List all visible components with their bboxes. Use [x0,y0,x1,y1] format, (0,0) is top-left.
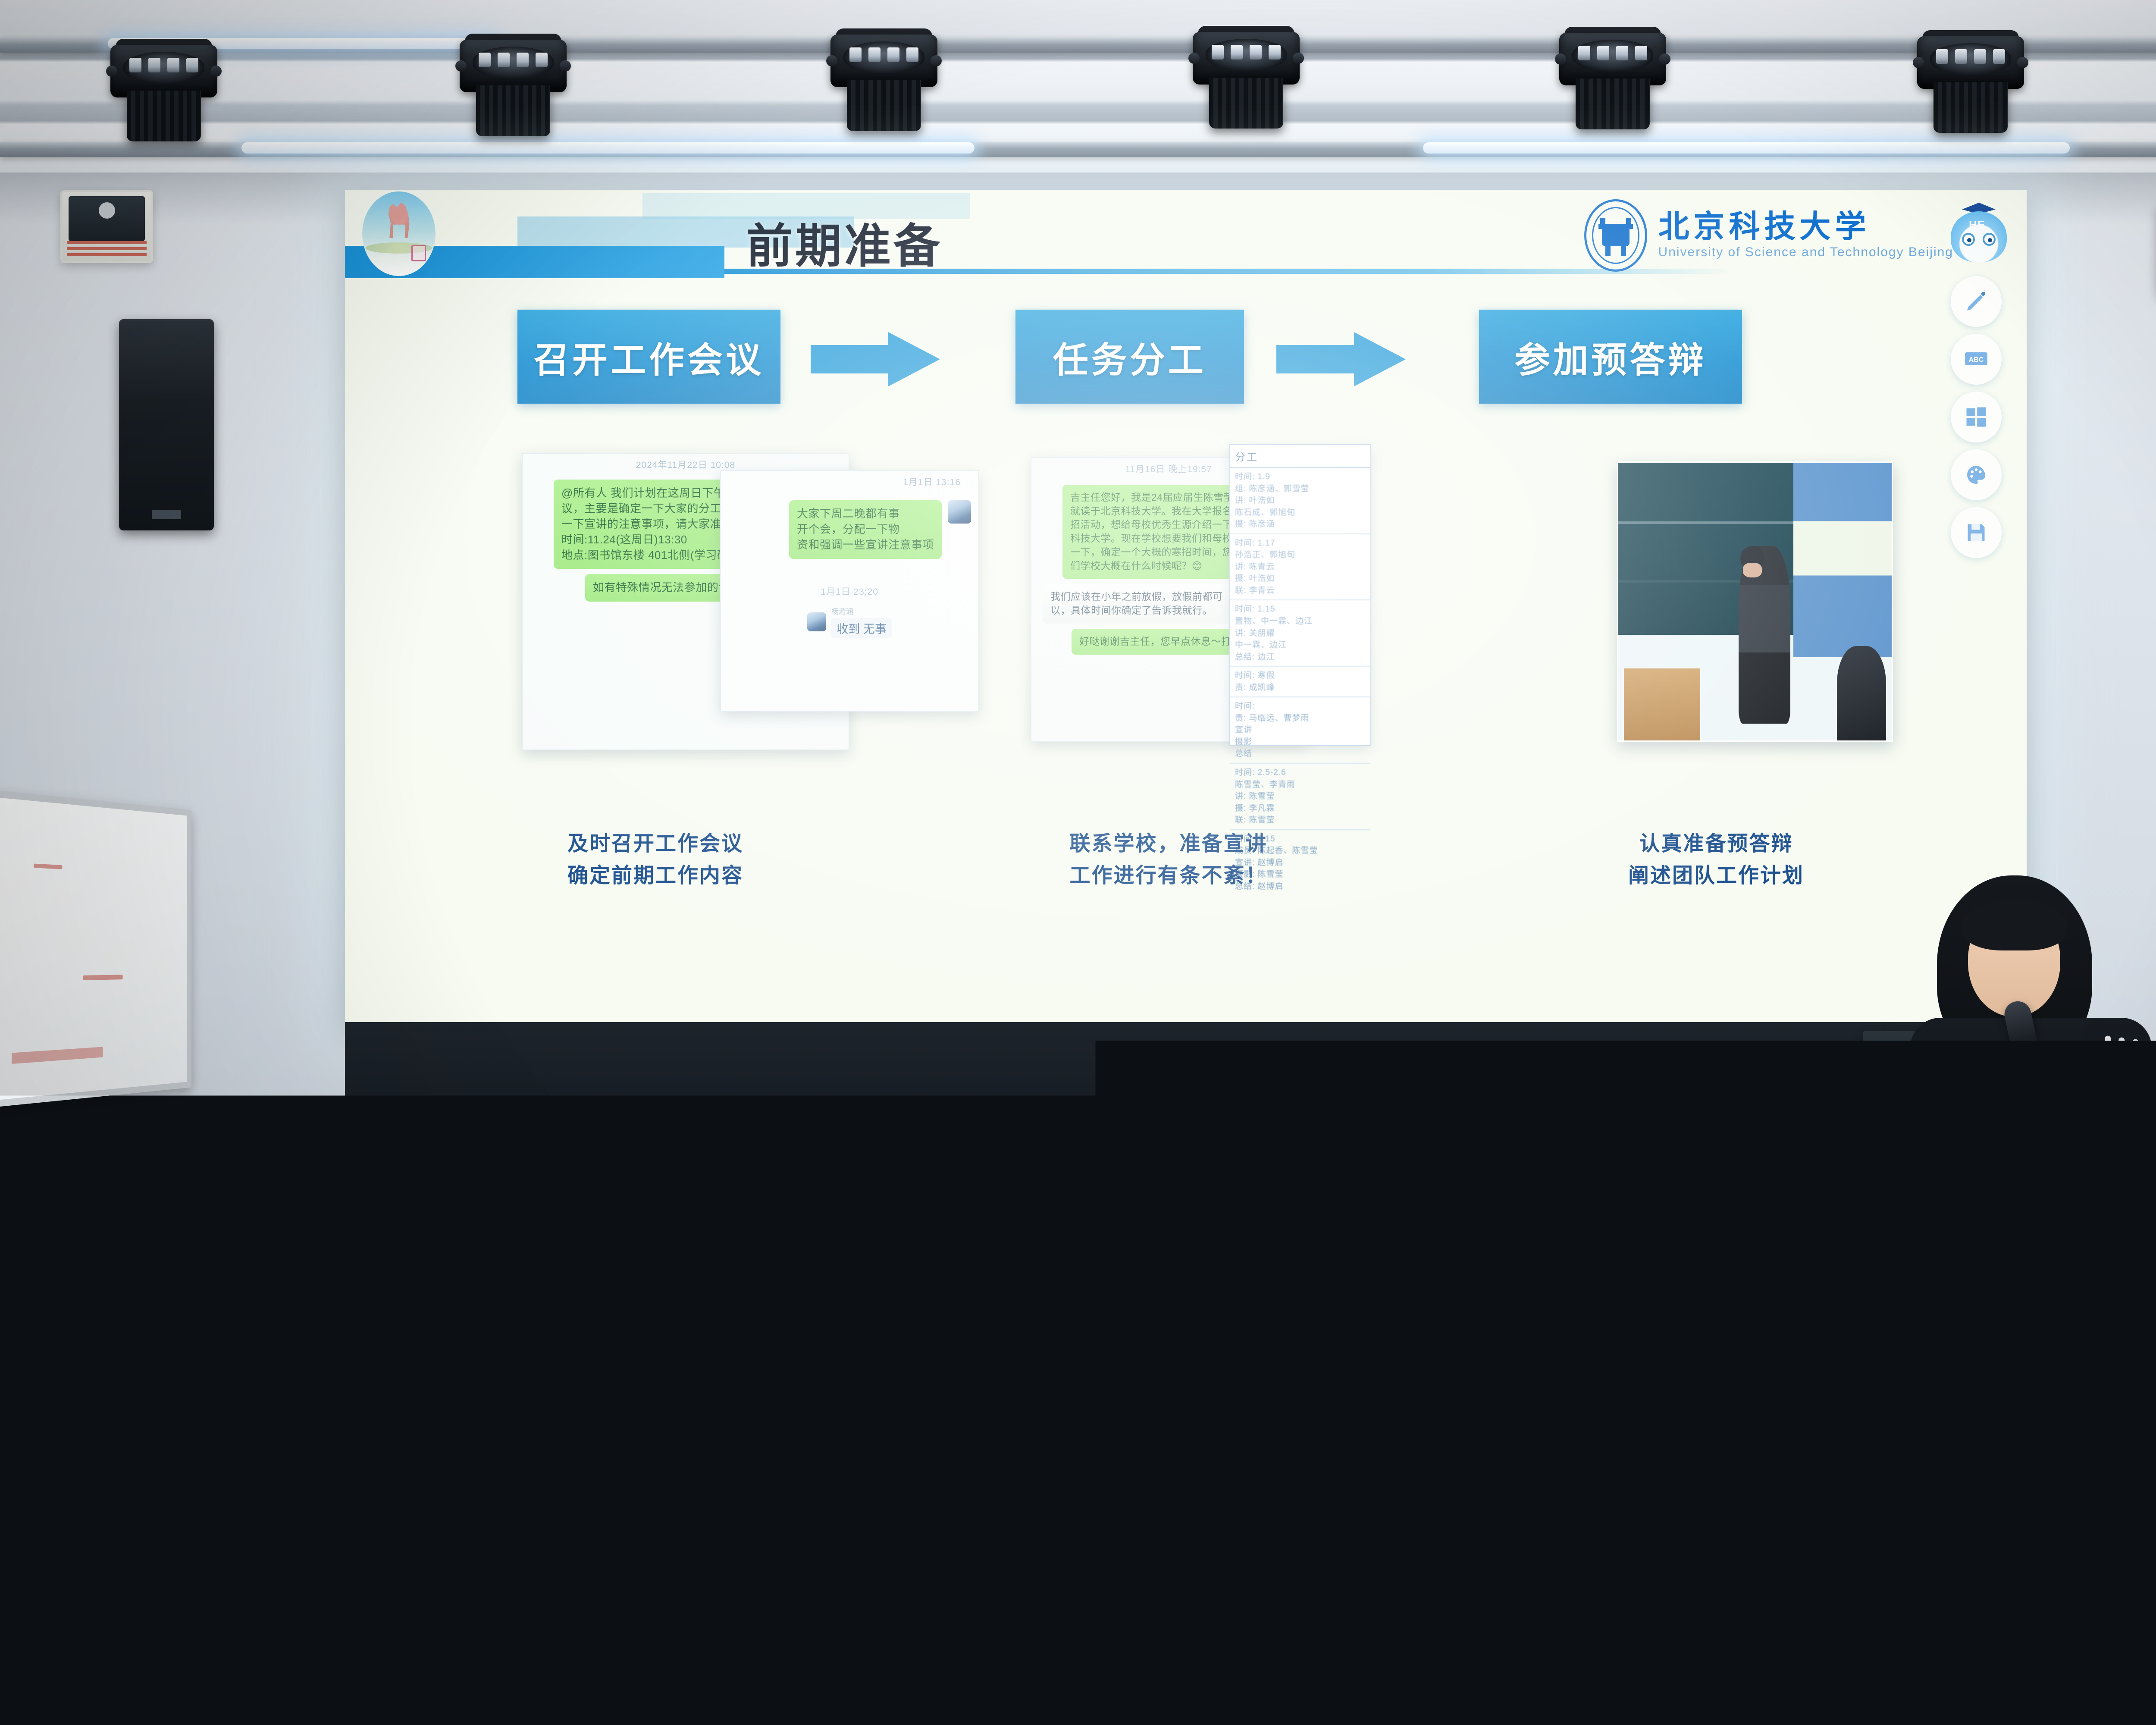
audience-head [1927,1195,2027,1298]
process-step-2: 任务分工 [1015,310,1244,404]
bench-row-1-seat[interactable] [1587,1298,1811,1345]
audience-head-front [1069,1350,1246,1535]
university-name-cn: 北京科技大学 [1658,211,1953,242]
audience-member-front-white [1833,1492,2156,1725]
audience-head [1509,1203,1591,1289]
chat-screenshot-column1-overlay: 1月1日 13:16 大家下周二晚都有事 开个会，分配一下物 资和强调一些宣讲注… [720,470,979,712]
caption-3-line1: 认真准备预答辩 [1548,828,1884,860]
university-seal-icon [1584,199,1647,272]
camel-brand-label: CAMEL [496,1604,557,1621]
ceiling-light-strip-left [241,142,975,154]
chat1-reply-text: 收到 无事 [831,618,892,638]
audience-head [647,1238,746,1341]
chat1-overlay-avatar [948,500,971,524]
palette-icon[interactable] [1951,449,2002,500]
lecture-hall-scene: 17:06 前期准备 [0,0,2156,1725]
task-division-table: 分工 时间: 1.9 组: 陈彦涵、郭雪莹 讲: 叶浩如 陈石成、郭旭旬 摄: … [1229,444,1371,746]
camel-badge-icon [362,191,436,276]
process-step-2-label: 任务分工 [1053,331,1206,383]
caption-2-line1: 联系学校，准备宣讲 [996,828,1341,860]
caption-column2: 联系学校，准备宣讲 工作进行有条不紊！ [996,828,1341,892]
mascot-label: HE [1969,218,1985,232]
title-underline [724,269,1733,274]
bench-row-2-seat[interactable] [1621,1389,1880,1445]
chat1-date-header: 2024年11月22日 10:08 [523,454,849,472]
caption-1-line1: 及时召开工作会议 [492,828,819,860]
audience-member-front-hood [26,1505,354,1725]
audience-member-front-yellow [1350,1535,1712,1725]
task-table-row-1: 时间: 1.9 组: 陈彦涵、郭雪莹 讲: 叶浩如 陈石成、郭旭旬 摄: 陈彦涵 [1230,468,1370,534]
caption-column3: 认真准备预答辩 阐述团队工作计划 [1548,828,1884,892]
task-table-row-2: 时间: 1.17 孙浩正、郭旭旬 讲: 陈青云 摄: 叶浩如 联: 李青云 [1230,534,1370,601]
slide-title: 前期准备 [746,209,943,276]
chat1-reply-avatar [807,612,826,631]
chat1-reply-name: 杨若涵 [831,605,892,616]
whiteboard [0,789,191,1108]
task-table-row-6: 时间: 2.5-2.6 陈雪莹、李青雨 讲: 陈雪莹 摄: 李凡霖 联: 陈雪莹 [1230,764,1370,830]
audience-head [901,1220,996,1320]
process-step-1-label: 召开工作会议 [534,331,764,383]
chat2-message-2-text: 我们应该在小年之前放假，放假前都可以，具体时间你确定了告诉我就行。 [1043,584,1250,623]
blackboard-abc-icon[interactable]: ABC [1951,334,2002,385]
wall-speaker-left [119,319,214,530]
wall-notice-sign [60,190,153,263]
caption-column1: 及时召开工作会议 确定前期工作内容 [492,828,819,892]
save-icon[interactable] [1951,507,2002,558]
task-table-row-3: 时间: 1.15 置物、中一霖、边江 讲: 关朋耀 中一霖、边江 总结: 边江 [1230,600,1370,667]
task-table-header: 分工 [1230,445,1370,468]
process-arrow-1-icon [811,332,940,386]
slide-header: 前期准备 北京科技大学 University of Science and [345,190,2027,278]
university-name-en: University of Science and Technology Bei… [1658,245,1953,260]
ceiling-light-strip-right [1423,142,2070,154]
task-table-row-5: 时间: 责: 马临远、曹梦雨 宣讲 摄影 总结 [1230,697,1370,764]
ceiling [0,0,2156,172]
annotation-toolbar[interactable]: ABC [1951,276,2007,565]
process-step-1: 召开工作会议 [517,310,780,404]
audience-head-front [768,1333,949,1522]
projection-screen: 前期准备 北京科技大学 University of Science and [345,190,2027,1022]
assistant-mascot-icon[interactable]: HE [1946,199,2011,264]
windows-icon[interactable] [1951,392,2002,442]
pre-defense-photo [1617,461,1893,742]
process-arrow-2-icon [1276,332,1406,386]
audience-head-front [423,1307,604,1501]
chat1-overlay-date: 1月1日 13:16 [721,471,978,489]
audience-member-front-light [983,1509,1337,1725]
caption-3-line2: 阐述团队工作计划 [1548,860,1884,892]
svg-text:ABC: ABC [1969,356,1984,364]
task-table-row-4: 时间: 寒假 责: 成凯峰 [1230,667,1370,697]
process-step-3: 参加预答辩 [1479,310,1742,404]
process-step-3-label: 参加预答辩 [1514,331,1706,383]
audience-head [1255,1164,1341,1255]
stage-backdrop [345,1022,2053,1229]
process-flow-row: 召开工作会议 任务分工 参加预答辩 [345,310,2027,405]
pen-icon[interactable] [1951,276,2002,327]
caption-1-line2: 确定前期工作内容 [492,860,819,892]
presenter: adidas [1910,875,2156,1203]
chat1-overlay-footer-time: 1月1日 23:20 [728,580,971,599]
chat1-overlay-message: 大家下周二晚都有事 开个会，分配一下物 资和强调一些宣讲注意事项 [728,500,971,559]
chat1-overlay-message-text: 大家下周二晚都有事 开个会，分配一下物 资和强调一些宣讲注意事项 [789,500,942,559]
caption-2-line2: 工作进行有条不紊！ [996,860,1341,892]
university-logo: 北京科技大学 University of Science and Technol… [1584,199,1953,272]
